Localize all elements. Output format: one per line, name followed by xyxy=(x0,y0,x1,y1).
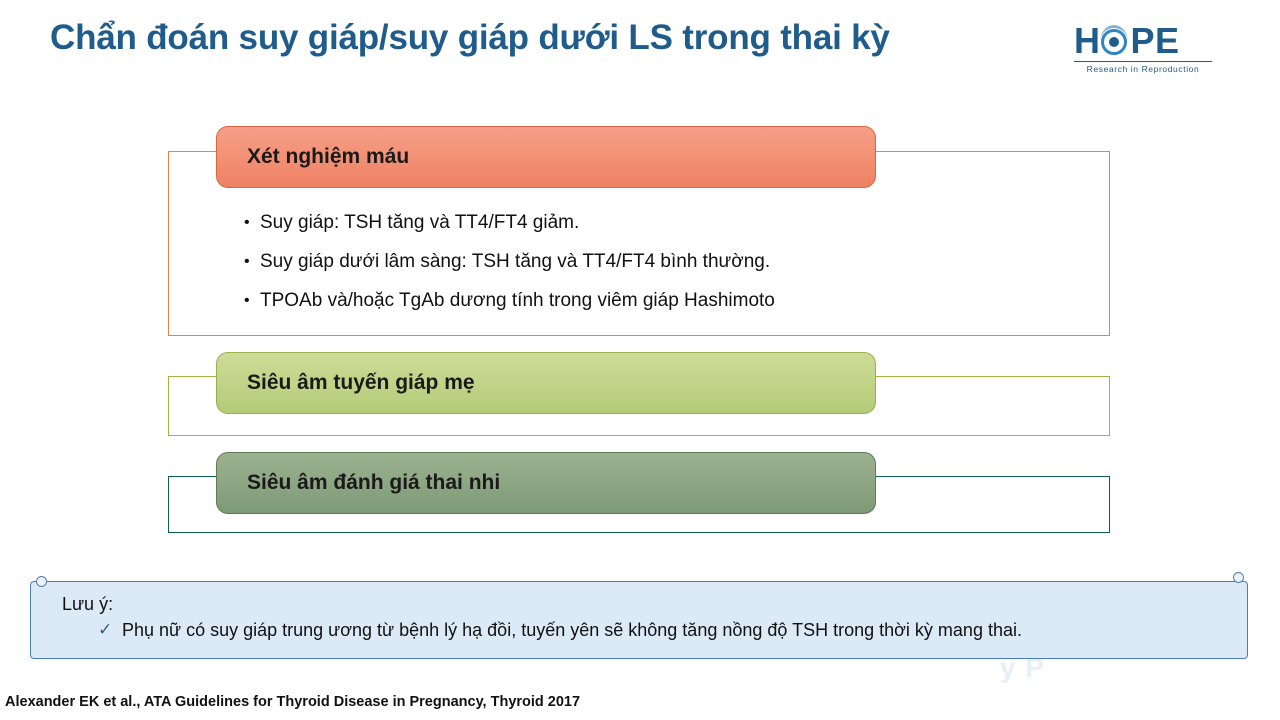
note-title: Lưu ý: xyxy=(62,594,113,615)
section-header-blood-test[interactable]: Xét nghiệm máu xyxy=(216,126,876,188)
bullet-list-blood-test: • Suy giáp: TSH tăng và TT4/FT4 giảm. • … xyxy=(244,210,1104,327)
hope-logo: HPE Research in Reproduction xyxy=(1074,22,1214,80)
list-item-text: Suy giáp dưới lâm sàng: TSH tăng và TT4/… xyxy=(260,249,770,275)
list-item-text: TPOAb và/hoặc TgAb dương tính trong viêm… xyxy=(260,288,775,314)
bullet-mark-icon: • xyxy=(244,288,260,314)
section-header-fetal-ultrasound[interactable]: Siêu âm đánh giá thai nhi xyxy=(216,452,876,514)
note-list-item-text: Phụ nữ có suy giáp trung ương từ bệnh lý… xyxy=(122,620,1022,641)
list-item: • Suy giáp dưới lâm sàng: TSH tăng và TT… xyxy=(244,249,1104,275)
logo-tagline: Research in Reproduction xyxy=(1074,61,1212,74)
section-header-maternal-thyroid-ultrasound[interactable]: Siêu âm tuyến giáp mẹ xyxy=(216,352,876,414)
bullet-mark-icon: • xyxy=(244,249,260,275)
logo-wordmark: HPE xyxy=(1074,22,1214,60)
footer-citation: Alexander EK et al., ATA Guidelines for … xyxy=(5,694,580,710)
check-icon: ✓ xyxy=(98,620,122,640)
logo-o-icon xyxy=(1101,28,1131,58)
page-title: Chẩn đoán suy giáp/suy giáp dưới LS tron… xyxy=(50,18,1170,58)
list-item: • TPOAb và/hoặc TgAb dương tính trong vi… xyxy=(244,288,1104,314)
note-list-item: ✓ Phụ nữ có suy giáp trung ương từ bệnh … xyxy=(98,620,1022,641)
logo-letters-pe: PE xyxy=(1131,20,1180,61)
list-item-text: Suy giáp: TSH tăng và TT4/FT4 giảm. xyxy=(260,210,579,236)
bullet-mark-icon: • xyxy=(244,210,260,236)
list-item: • Suy giáp: TSH tăng và TT4/FT4 giảm. xyxy=(244,210,1104,236)
note-resize-handle-right[interactable] xyxy=(1233,572,1244,583)
note-resize-handle-left[interactable] xyxy=(36,576,47,587)
logo-letter-h: H xyxy=(1074,20,1101,61)
